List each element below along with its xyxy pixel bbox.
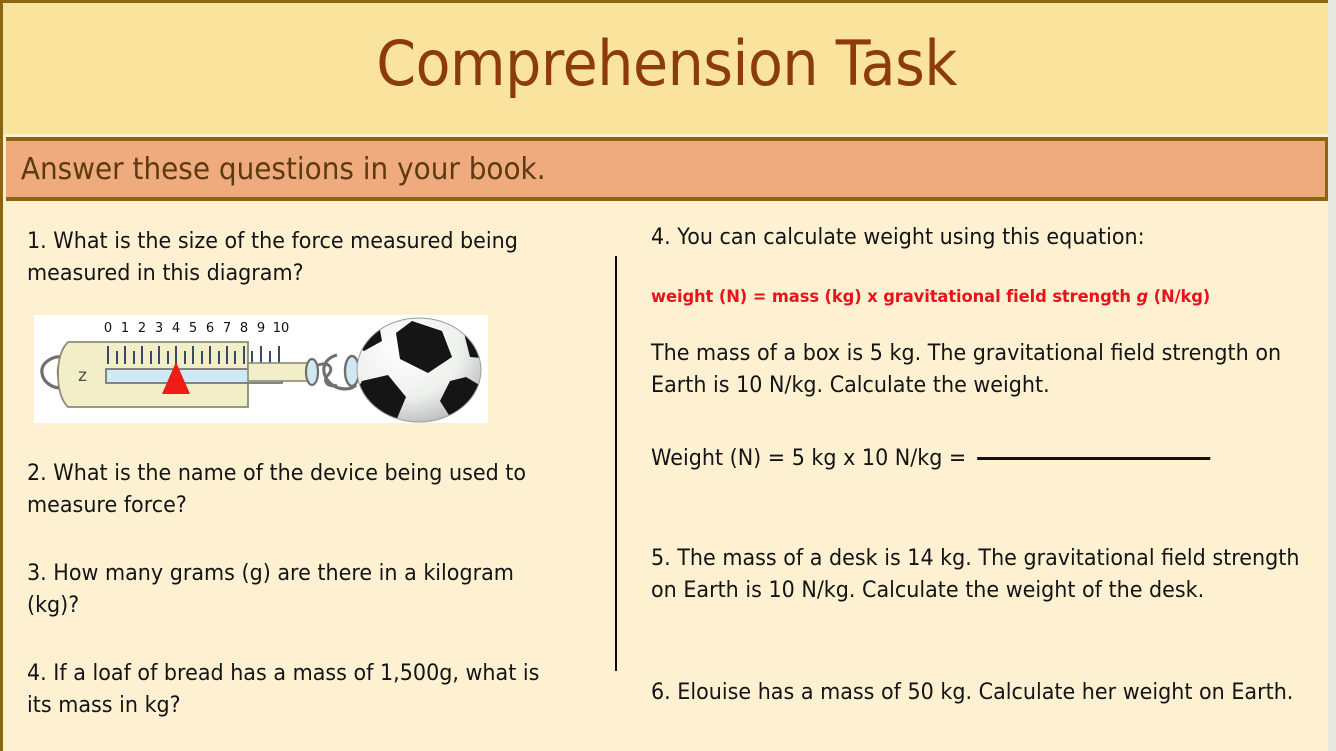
weight-prompt-text: Weight (N) = 5 kg x 10 N/kg = — [651, 443, 966, 475]
newton-meter-figure: z 0 1 2 3 4 5 6 7 8 9 10 — [34, 315, 488, 423]
instruction-band: Answer these questions in your book. — [6, 137, 1328, 201]
slide-canvas: Comprehension Task Answer these question… — [0, 0, 1328, 751]
svg-text:3: 3 — [155, 321, 163, 336]
column-divider — [615, 256, 617, 671]
weight-equation: weight (N) = mass (kg) x gravitational f… — [651, 287, 1313, 307]
equation-symbol-g: g — [1136, 287, 1148, 307]
svg-text:7: 7 — [223, 321, 231, 336]
instruction-text: Answer these questions in your book. — [6, 152, 546, 187]
equation-part-1: weight (N) = mass (kg) x gravitational f… — [651, 287, 1136, 307]
question-1: 1. What is the size of the force measure… — [27, 226, 570, 290]
question-4-left: 4. If a loaf of bread has a mass of 1,50… — [27, 658, 570, 722]
svg-text:9: 9 — [257, 321, 265, 336]
svg-text:0: 0 — [104, 321, 112, 336]
scale-numbers: 0 1 2 3 4 5 6 7 8 9 10 — [104, 321, 289, 336]
svg-text:10: 10 — [273, 321, 290, 336]
title-band: Comprehension Task — [3, 3, 1328, 134]
meter-shaft — [248, 363, 310, 381]
worked-problem-text: The mass of a box is 5 kg. The gravitati… — [651, 338, 1300, 402]
newton-meter-svg: z 0 1 2 3 4 5 6 7 8 9 10 — [34, 315, 488, 423]
svg-text:2: 2 — [138, 321, 146, 336]
question-4-intro: 4. You can calculate weight using this e… — [651, 222, 1300, 254]
meter-body-letter: z — [78, 366, 87, 386]
question-3: 3. How many grams (g) are there in a kil… — [27, 558, 570, 622]
football-icon — [350, 318, 488, 423]
hook-icon — [306, 355, 359, 389]
question-5: 5. The mass of a desk is 14 kg. The grav… — [651, 543, 1300, 607]
equation-part-2: (N/kg) — [1148, 287, 1210, 307]
svg-text:4: 4 — [172, 321, 180, 336]
svg-text:8: 8 — [240, 321, 248, 336]
svg-text:6: 6 — [206, 321, 214, 336]
svg-text:5: 5 — [189, 321, 197, 336]
page-title: Comprehension Task — [377, 33, 958, 105]
weight-answer-line: Weight (N) = 5 kg x 10 N/kg = — [651, 443, 1300, 475]
question-6: 6. Elouise has a mass of 50 kg. Calculat… — [651, 677, 1300, 709]
svg-text:1: 1 — [121, 321, 129, 336]
question-2: 2. What is the name of the device being … — [27, 458, 570, 522]
content-area: 1. What is the size of the force measure… — [3, 205, 1328, 751]
weight-answer-blank[interactable] — [978, 457, 1211, 460]
